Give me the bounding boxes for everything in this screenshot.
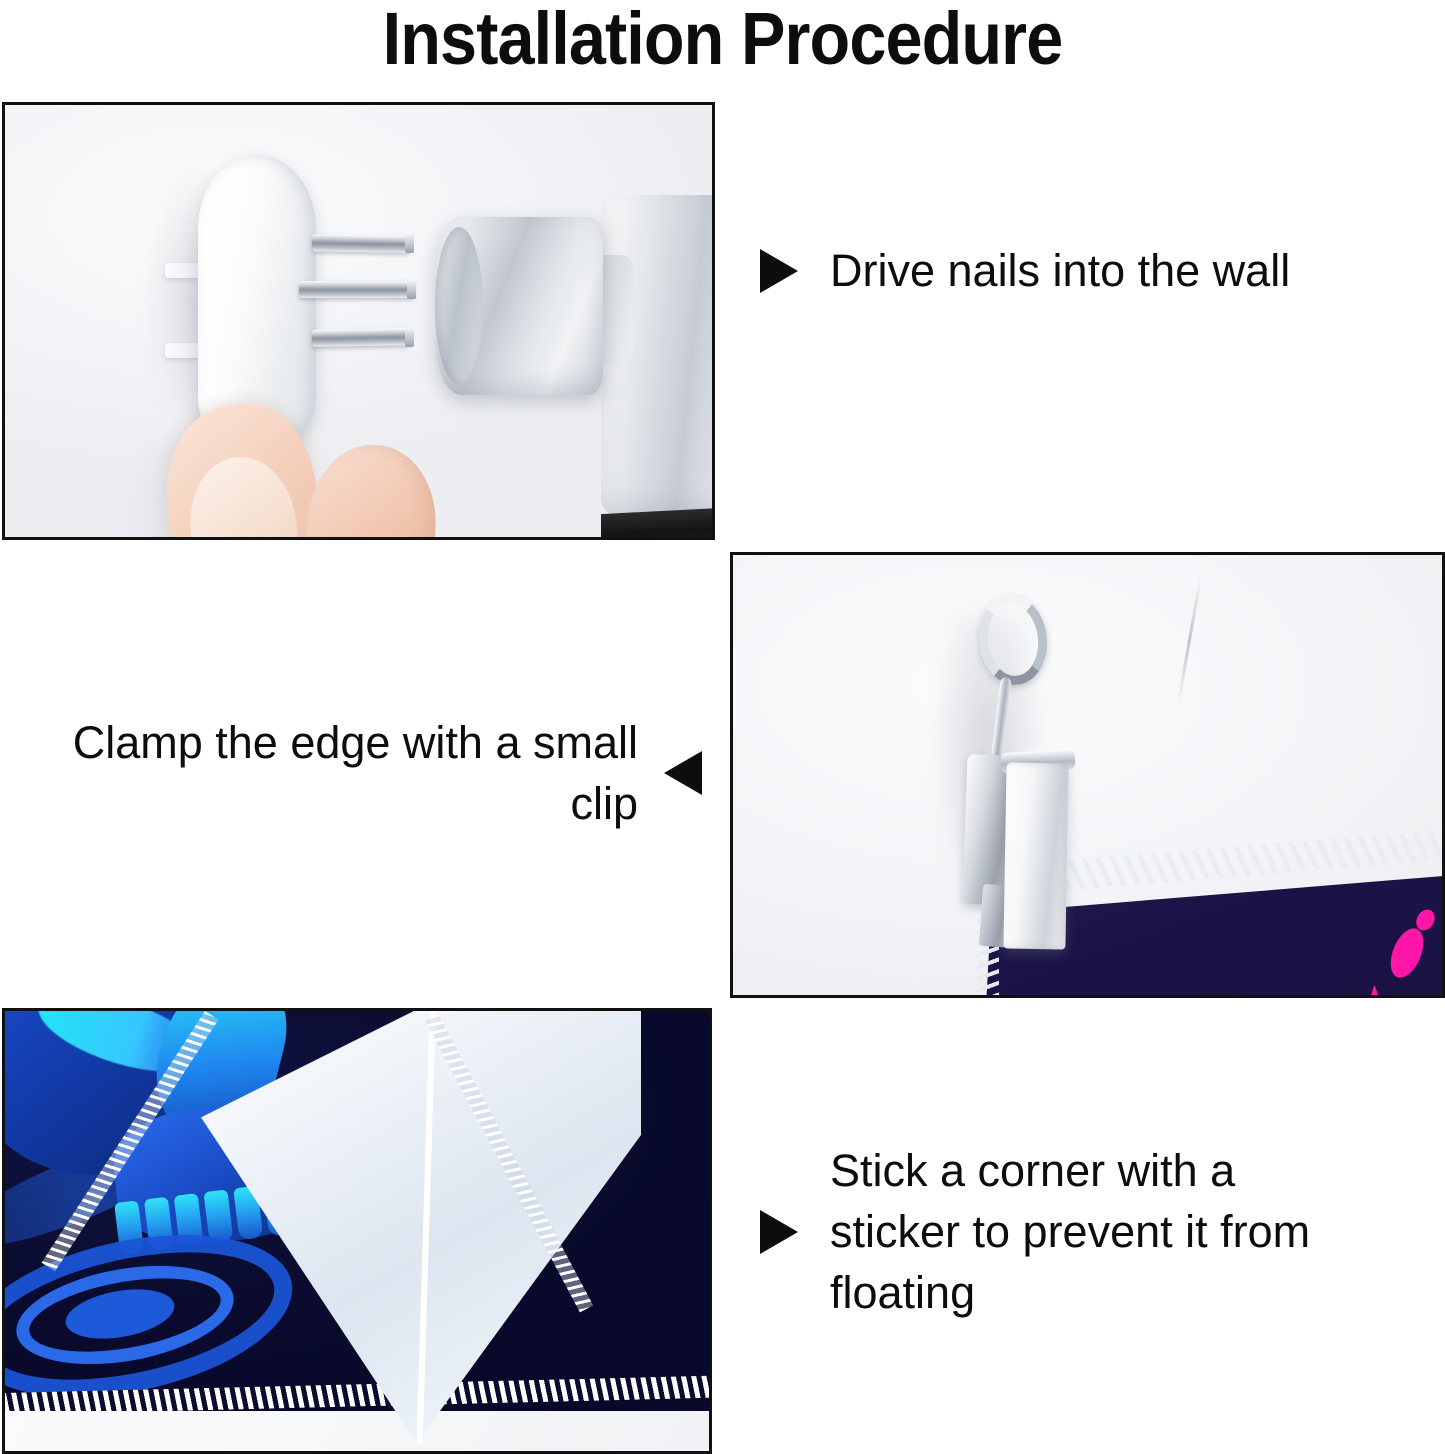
hammer-striking-face xyxy=(435,227,483,385)
triangle-right-icon xyxy=(760,249,798,293)
nail-head-3 xyxy=(405,328,414,347)
step-1: Drive nails into the wall xyxy=(760,240,1300,301)
step-3-label: Stick a corner with a sticker to prevent… xyxy=(830,1140,1340,1324)
steel-nail-3 xyxy=(312,328,410,347)
magenta-blob xyxy=(1405,997,1445,998)
triangle-right-icon xyxy=(760,1210,798,1254)
page-title: Installation Procedure xyxy=(72,2,1373,76)
nail-head-1 xyxy=(405,234,414,253)
steel-nail-1 xyxy=(312,234,410,253)
sticker-corner-photo xyxy=(2,1008,712,1454)
nails-hammer-photo xyxy=(2,102,715,540)
clip-lever xyxy=(1003,762,1068,949)
step-1-label: Drive nails into the wall xyxy=(830,240,1290,301)
step-3: Stick a corner with a sticker to prevent… xyxy=(760,1140,1340,1324)
white-plastic-nail-hook xyxy=(198,155,316,445)
triangle-left-icon xyxy=(664,751,702,795)
nail-head-2 xyxy=(407,280,416,299)
step-2: Clamp the edge with a small clip xyxy=(62,712,702,834)
black-ferrule xyxy=(601,508,715,540)
step-2-label: Clamp the edge with a small clip xyxy=(62,712,638,834)
installation-procedure-infographic: Installation Procedure xyxy=(0,0,1445,1454)
clip-corner-photo xyxy=(730,552,1445,998)
steel-nail-2 xyxy=(299,281,414,298)
